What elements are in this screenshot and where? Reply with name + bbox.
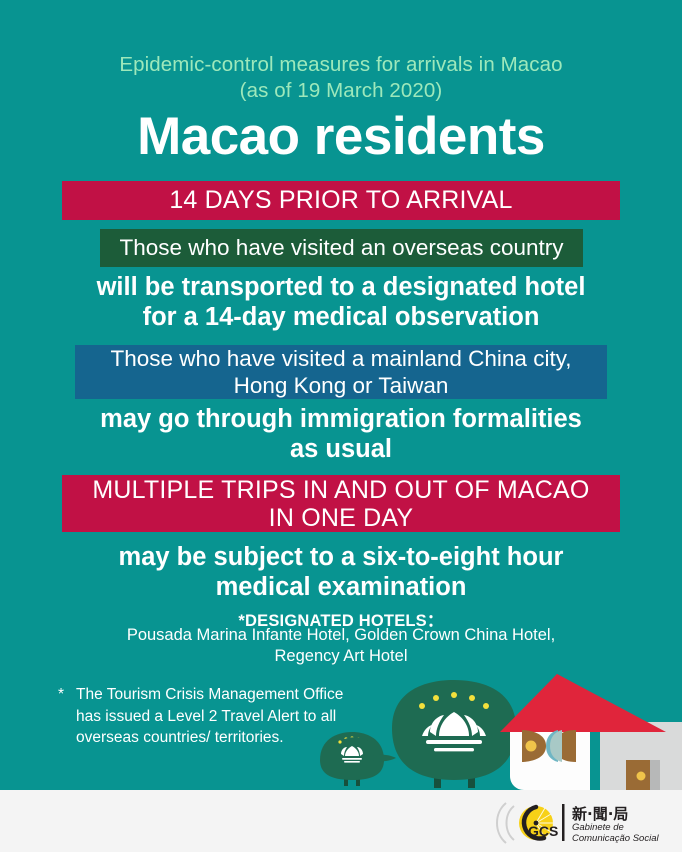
poster-subtitle: Epidemic-control measures for arrivals i… [0, 52, 682, 104]
statement-overseas-measure: will be transported to a designated hote… [0, 272, 682, 332]
illustration-group [310, 668, 682, 790]
banner-multiple-trips: MULTIPLE TRIPS IN AND OUT OF MACAO IN ON… [62, 475, 620, 532]
banner-mainland-line-1: Those who have visited a mainland China … [110, 345, 571, 372]
gcs-chinese-name: 新·聞·局 [572, 805, 628, 823]
statement-multiple-trips-line-2: medical examination [0, 572, 682, 602]
gcs-portuguese-line-1: Gabinete de [572, 822, 624, 833]
infographic-poster: Epidemic-control measures for arrivals i… [0, 0, 682, 852]
sound-wave-arcs-icon [497, 803, 514, 843]
subtitle-line-2: (as of 19 March 2020) [0, 78, 682, 104]
gcs-portuguese-line-2: Comunicação Social [572, 833, 659, 844]
statement-mainland-line-2: as usual [0, 434, 682, 464]
banner-multiple-trips-line-1: MULTIPLE TRIPS IN AND OUT OF MACAO [92, 476, 589, 504]
statement-multiple-trips-line-1: may be subject to a six-to-eight hour [0, 542, 682, 572]
footnote-text: The Tourism Crisis Management Office has… [58, 684, 348, 749]
statement-overseas-line-1: will be transported to a designated hote… [0, 272, 682, 302]
travel-alert-footnote: * The Tourism Crisis Management Office h… [58, 684, 348, 749]
designated-hotels-list: Pousada Marina Infante Hotel, Golden Cro… [0, 625, 682, 667]
designated-hotels-line-2: Regency Art Hotel [0, 646, 682, 667]
banner-overseas-visitors-label: Those who have visited an overseas count… [120, 235, 564, 261]
designated-hotels-line-1: Pousada Marina Infante Hotel, Golden Cro… [0, 625, 682, 646]
house-with-red-roof-icon [500, 674, 682, 790]
banner-overseas-visitors: Those who have visited an overseas count… [100, 229, 583, 267]
statement-overseas-line-2: for a 14-day medical observation [0, 302, 682, 332]
banner-mainland-line-2: Hong Kong or Taiwan [110, 372, 571, 399]
banner-14-days-prior-label: 14 DAYS PRIOR TO ARRIVAL [169, 186, 512, 215]
logo-divider [562, 804, 565, 841]
page-title: Macao residents [0, 108, 682, 166]
banner-mainland-hk-taiwan: Those who have visited a mainland China … [75, 345, 607, 399]
statement-multiple-trips-measure: may be subject to a six-to-eight hour me… [0, 542, 682, 602]
statement-mainland-measure: may go through immigration formalities a… [0, 404, 682, 464]
subtitle-line-1: Epidemic-control measures for arrivals i… [0, 52, 682, 78]
gcs-logo: GCS 新·聞·局 Gabinete de Comunicação Social [492, 800, 672, 845]
banner-multiple-trips-line-2: IN ONE DAY [92, 504, 589, 532]
banner-14-days-prior: 14 DAYS PRIOR TO ARRIVAL [62, 181, 620, 220]
footnote-asterisk-marker: * [58, 684, 64, 706]
statement-mainland-line-1: may go through immigration formalities [0, 404, 682, 434]
gcs-monogram: GCS [528, 823, 558, 839]
